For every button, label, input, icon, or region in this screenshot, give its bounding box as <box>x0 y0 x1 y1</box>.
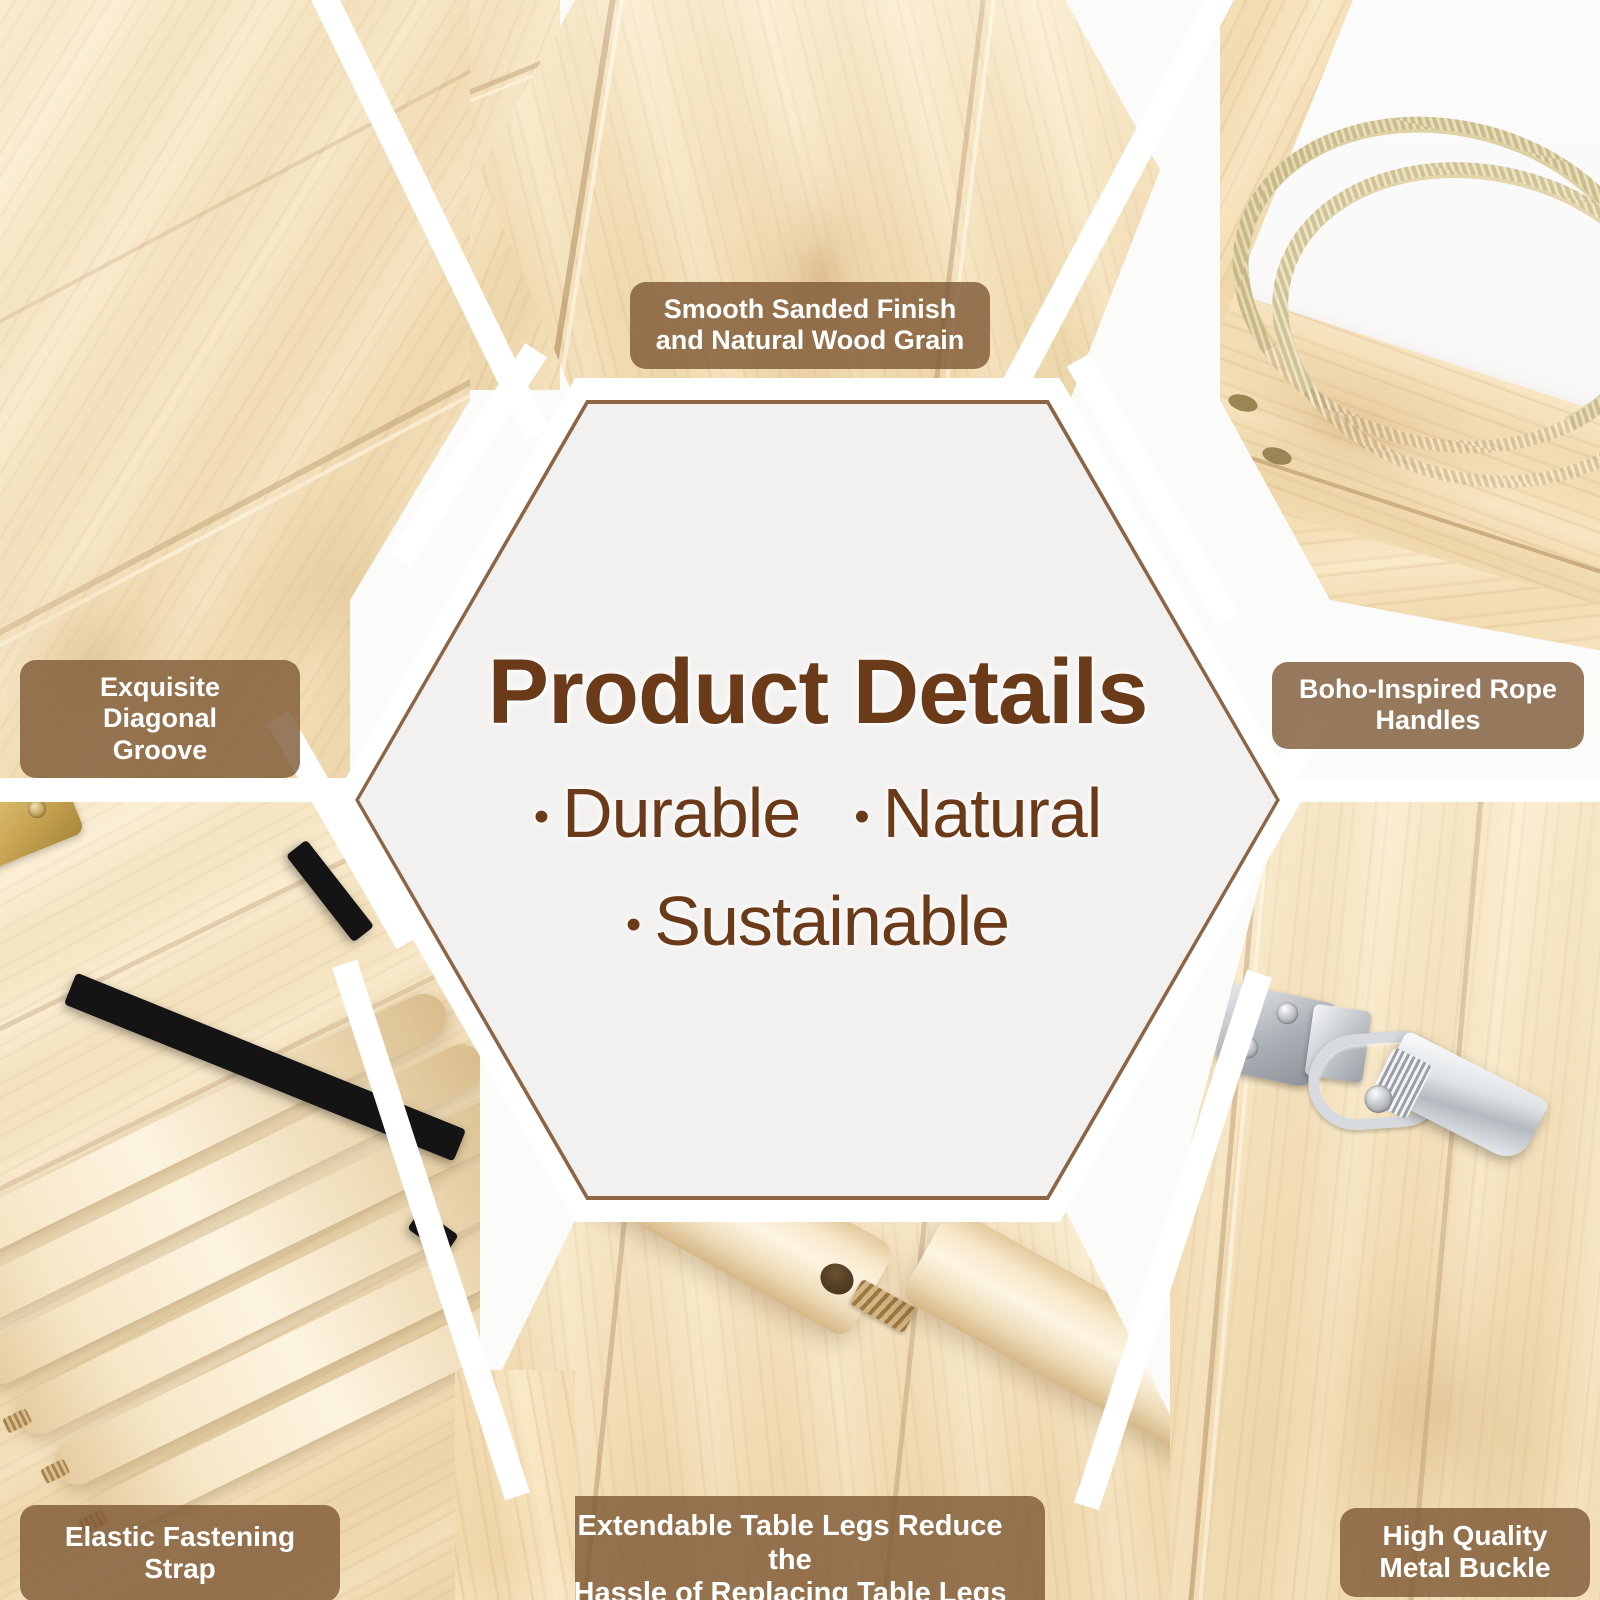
label-boho-inspired-rope-handles: Boho-Inspired Rope Handles <box>1272 662 1584 749</box>
center-content: Product Details Durable Natural Sustaina… <box>355 400 1280 1200</box>
label-line-1: Elastic Fastening Strap <box>40 1521 320 1586</box>
infographic-canvas: Smooth Sanded Finish and Natural Wood Gr… <box>0 0 1600 1600</box>
label-line-1: Exquisite Diagonal <box>42 672 278 735</box>
center-hexagon: Product Details Durable Natural Sustaina… <box>355 400 1280 1200</box>
feature-bullet-natural: Natural <box>854 773 1101 853</box>
label-line-1: Extendable Table Legs Reduce the <box>555 1510 1025 1577</box>
label-exquisite-diagonal-groove: Exquisite Diagonal Groove <box>20 660 300 778</box>
feature-bullet-sustainable: Sustainable <box>626 881 1009 961</box>
label-line-1: Smooth Sanded Finish <box>652 294 968 325</box>
label-line-1: Boho-Inspired Rope <box>1294 674 1562 705</box>
label-line-1: High Quality <box>1362 1520 1568 1552</box>
label-high-quality-metal-buckle: High Quality Metal Buckle <box>1340 1508 1590 1597</box>
label-line-2: and Natural Wood Grain <box>652 325 968 356</box>
screw-icon <box>28 800 46 818</box>
panel-bottom-center-extendable-legs: Extendable Table Legs Reduce the Hassle … <box>480 1200 1170 1600</box>
label-line-2: Hassle of Replacing Table Legs <box>555 1577 1025 1600</box>
feature-bullets-row-2: Sustainable <box>626 881 1009 961</box>
label-smooth-sanded-finish: Smooth Sanded Finish and Natural Wood Gr… <box>630 282 990 369</box>
label-line-2: Handles <box>1294 705 1562 736</box>
feature-bullets-row: Durable Natural <box>534 773 1102 853</box>
panel-top-center-sanded-finish: Smooth Sanded Finish and Natural Wood Gr… <box>480 0 1160 400</box>
label-line-2: Metal Buckle <box>1362 1552 1568 1584</box>
label-line-2: Groove <box>42 735 278 766</box>
page-title: Product Details <box>488 640 1148 745</box>
label-extendable-table-legs: Extendable Table Legs Reduce the Hassle … <box>535 1496 1045 1600</box>
label-elastic-fastening-strap: Elastic Fastening Strap <box>20 1505 340 1600</box>
feature-bullet-durable: Durable <box>534 773 801 853</box>
